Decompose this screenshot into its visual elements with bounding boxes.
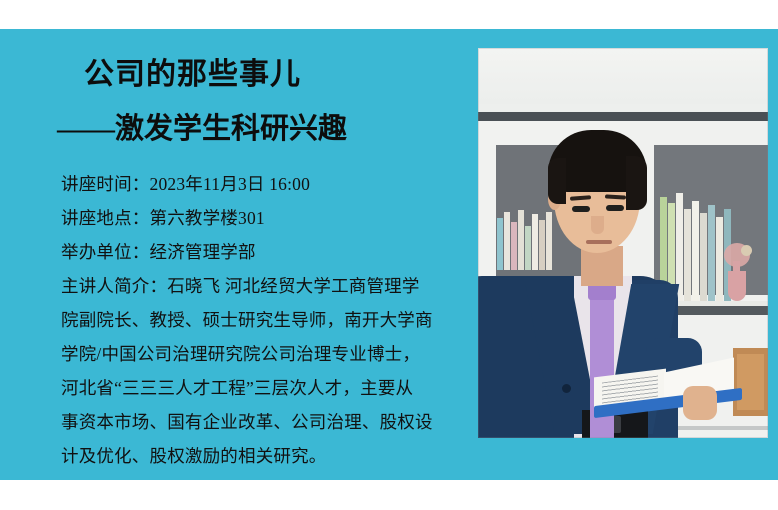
hair-side-left [548,158,566,204]
bio-line: 院副院长、教授、硕士研究生导师，南开大学商 [61,303,461,337]
speaker-figure [478,48,768,438]
bio-line: 主讲人简介：石晓飞 河北经贸大学工商管理学 [61,269,461,303]
info-line-organizer: 举办单位：经济管理学部 [61,235,461,269]
info-line-location: 讲座地点：第六教学楼301 [61,201,461,235]
bio-line: 河北省“三三三人才工程”三层次人才，主要从 [61,371,461,405]
mouth [586,240,612,244]
nose [591,216,604,234]
hand-right [683,386,717,420]
bio-line: 计及优化、股权激励的相关研究。 [61,439,461,473]
eye-left [572,206,590,212]
speaker-photo [478,48,768,438]
suit-button [562,384,571,393]
eye-right [606,205,624,211]
bio-line: 事资本市场、国有企业改革、公司治理、股权设 [61,405,461,439]
lecture-poster: 公司的那些事儿 ——激发学生科研兴趣 讲座时间：2023年11月3日 16:00… [0,0,778,510]
bio-line: 学院/中国公司治理研究院公司治理专业博士， [61,337,461,371]
info-line-time: 讲座时间：2023年11月3日 16:00 [61,167,461,201]
poster-title-main: 公司的那些事儿 [84,60,301,90]
hair-side-right [626,156,647,210]
poster-body-block: 讲座时间：2023年11月3日 16:00 讲座地点：第六教学楼301 举办单位… [61,167,461,473]
poster-title-subtitle: ——激发学生科研兴趣 [57,115,347,144]
poster-text-column: 公司的那些事儿 ——激发学生科研兴趣 讲座时间：2023年11月3日 16:00… [0,29,470,480]
